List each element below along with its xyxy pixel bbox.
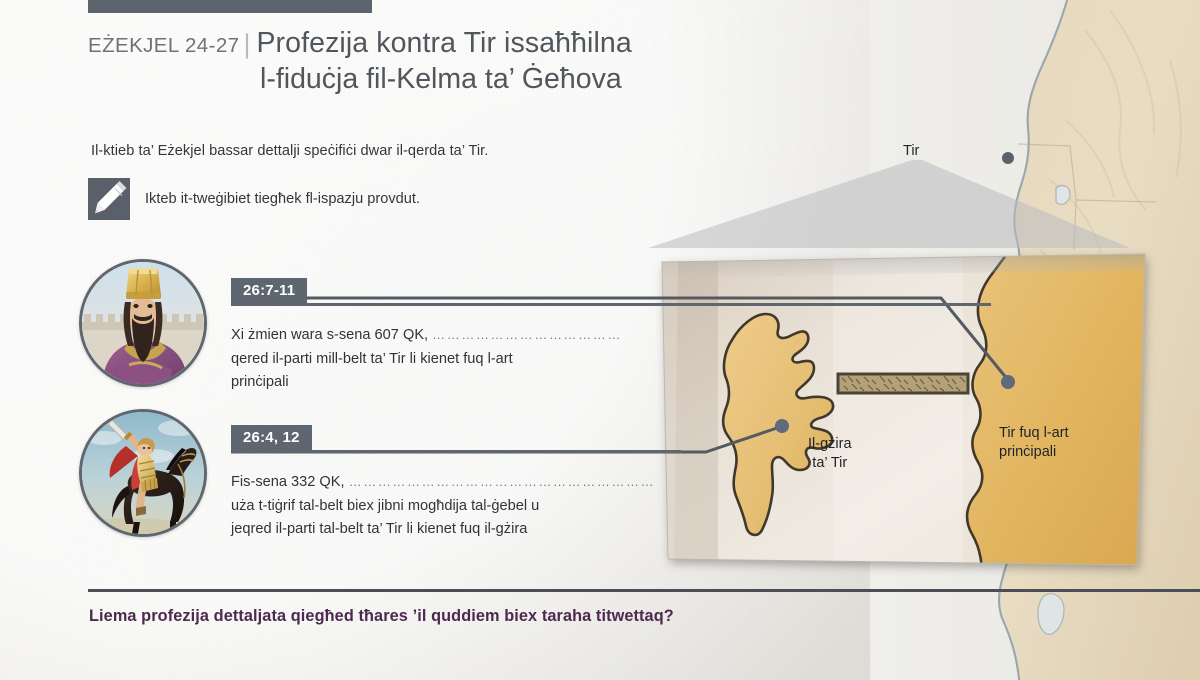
infographic-page: Tir [0, 0, 1200, 680]
mainland-caption: Tir fuq l-art prinċipali [999, 424, 1069, 461]
pencil-icon [88, 178, 130, 220]
scripture-block-1: 26:7-11 Xi żmien wara s-sena 607 QK, ………… [231, 278, 661, 395]
block-2-text: Fis-sena 332 QK, ……………………………………………………… u… [231, 471, 661, 542]
block-2-line1-pre: Fis-sena 332 QK, [231, 474, 349, 490]
intro-lead-text: Il-ktieb ta’ Eżekjel bassar dettalji spe… [91, 143, 488, 159]
block-2-line3: jeqred il-parti tal-belt ta’ Tir li kien… [231, 521, 527, 537]
footer-question: Liema profezija dettaljata qiegħed tħare… [89, 607, 674, 626]
scripture-block-2: 26:4, 12 Fis-sena 332 QK, ……………………………………… [231, 425, 661, 542]
footer-rule [88, 589, 1200, 592]
header-separator: | [239, 29, 256, 59]
island-caption-line2: ta’ Tir [812, 455, 847, 471]
inset-detail-map [648, 248, 1158, 578]
block-1-line2: qered il-parti mill-belt ta’ Tir li kien… [231, 351, 513, 367]
island-caption: Il-gżira ta’ Tir [808, 435, 852, 472]
block-1-text: Xi żmien wara s-sena 607 QK, ……………………………… [231, 324, 661, 395]
block-1-line3: prinċipali [231, 374, 289, 390]
block-1-line1-pre: Xi żmien wara s-sena 607 QK, [231, 327, 432, 343]
instruction-row: Ikteb it-tweġibiet tiegħek fl-ispazju pr… [88, 178, 420, 220]
causeway [838, 374, 968, 393]
verse-tag-2: 26:4, 12 [231, 425, 312, 451]
island-caption-line1: Il-gżira [808, 436, 852, 452]
page-title-line2: l-fiduċja fil-Kelma ta’ Ġeħova [260, 61, 728, 98]
mainland-caption-line2: prinċipali [999, 444, 1056, 460]
mainland-caption-line1: Tir fuq l-art [999, 425, 1069, 441]
page-title-line1: Profezija kontra Tir issaħħilna [256, 27, 631, 59]
block-2-answer-blank[interactable]: ……………………………………………………… [349, 474, 656, 489]
nebuchadnezzar-portrait [79, 259, 207, 387]
instruction-text: Ikteb it-tweġibiet tiegħek fl-ispazju pr… [145, 191, 420, 207]
scripture-reference: EŻEKJEL 24-27 [88, 34, 239, 57]
alexander-the-great-portrait [79, 409, 207, 537]
verse-tag-1: 26:7-11 [231, 278, 307, 304]
page-header: EŻEKJEL 24-27|Profezija kontra Tir issaħ… [88, 26, 728, 98]
block-1-answer-blank[interactable]: ………………………………… [432, 327, 622, 342]
block-2-line2: uża t-tiġrif tal-belt biex jibni mogħdij… [231, 498, 539, 514]
top-accent-bar [88, 0, 372, 13]
